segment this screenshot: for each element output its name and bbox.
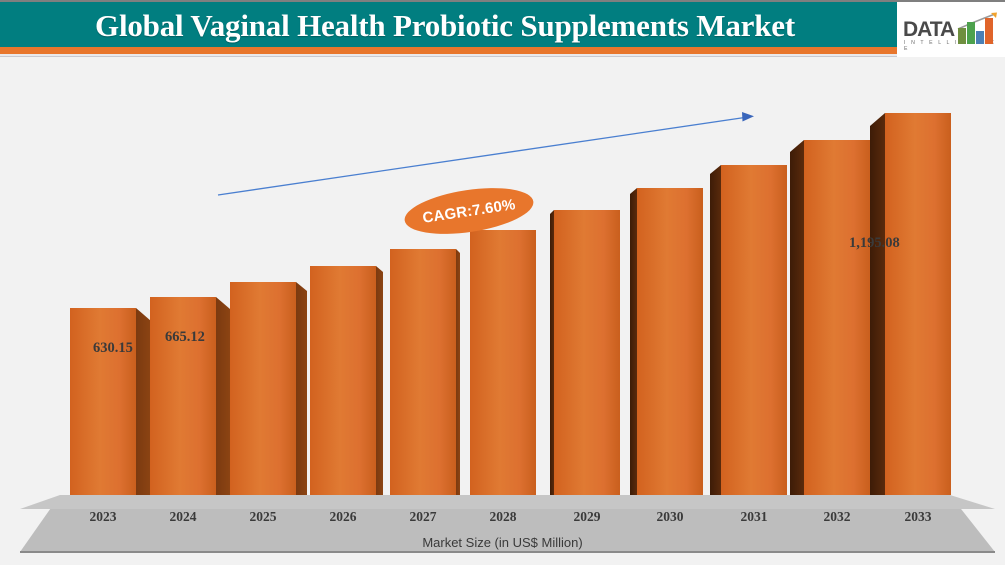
header-banner: Global Vaginal Health Probiotic Suppleme… [0,0,1005,47]
logo-wordmark: DATA [903,18,954,42]
chart-infographic: Global Vaginal Health Probiotic Suppleme… [0,0,1005,565]
x-axis-label-2033: 2033 [878,509,958,525]
chart-canvas: 630.15 665.12 1,195.08 CAGR:7.60% 202320… [0,57,1005,565]
x-axis-label-2025: 2025 [223,509,303,525]
x-axis-label-2024: 2024 [143,509,223,525]
x-axis-label-2023: 2023 [63,509,143,525]
brand-logo: DATA I N T E L L I G E N C E [897,2,1005,57]
x-axis-label-2030: 2030 [630,509,710,525]
logo-bar-icon [958,16,1000,44]
page-title: Global Vaginal Health Probiotic Suppleme… [0,2,890,49]
x-axis-label-2028: 2028 [463,509,543,525]
x-axis-label-2029: 2029 [547,509,627,525]
x-axis-label-2031: 2031 [714,509,794,525]
x-axis-label-2026: 2026 [303,509,383,525]
x-axis-label-2027: 2027 [383,509,463,525]
header-orange-stripe [0,47,1005,54]
x-axis-label-2032: 2032 [797,509,877,525]
axis-caption: Market Size (in US$ Million) [0,535,1005,550]
